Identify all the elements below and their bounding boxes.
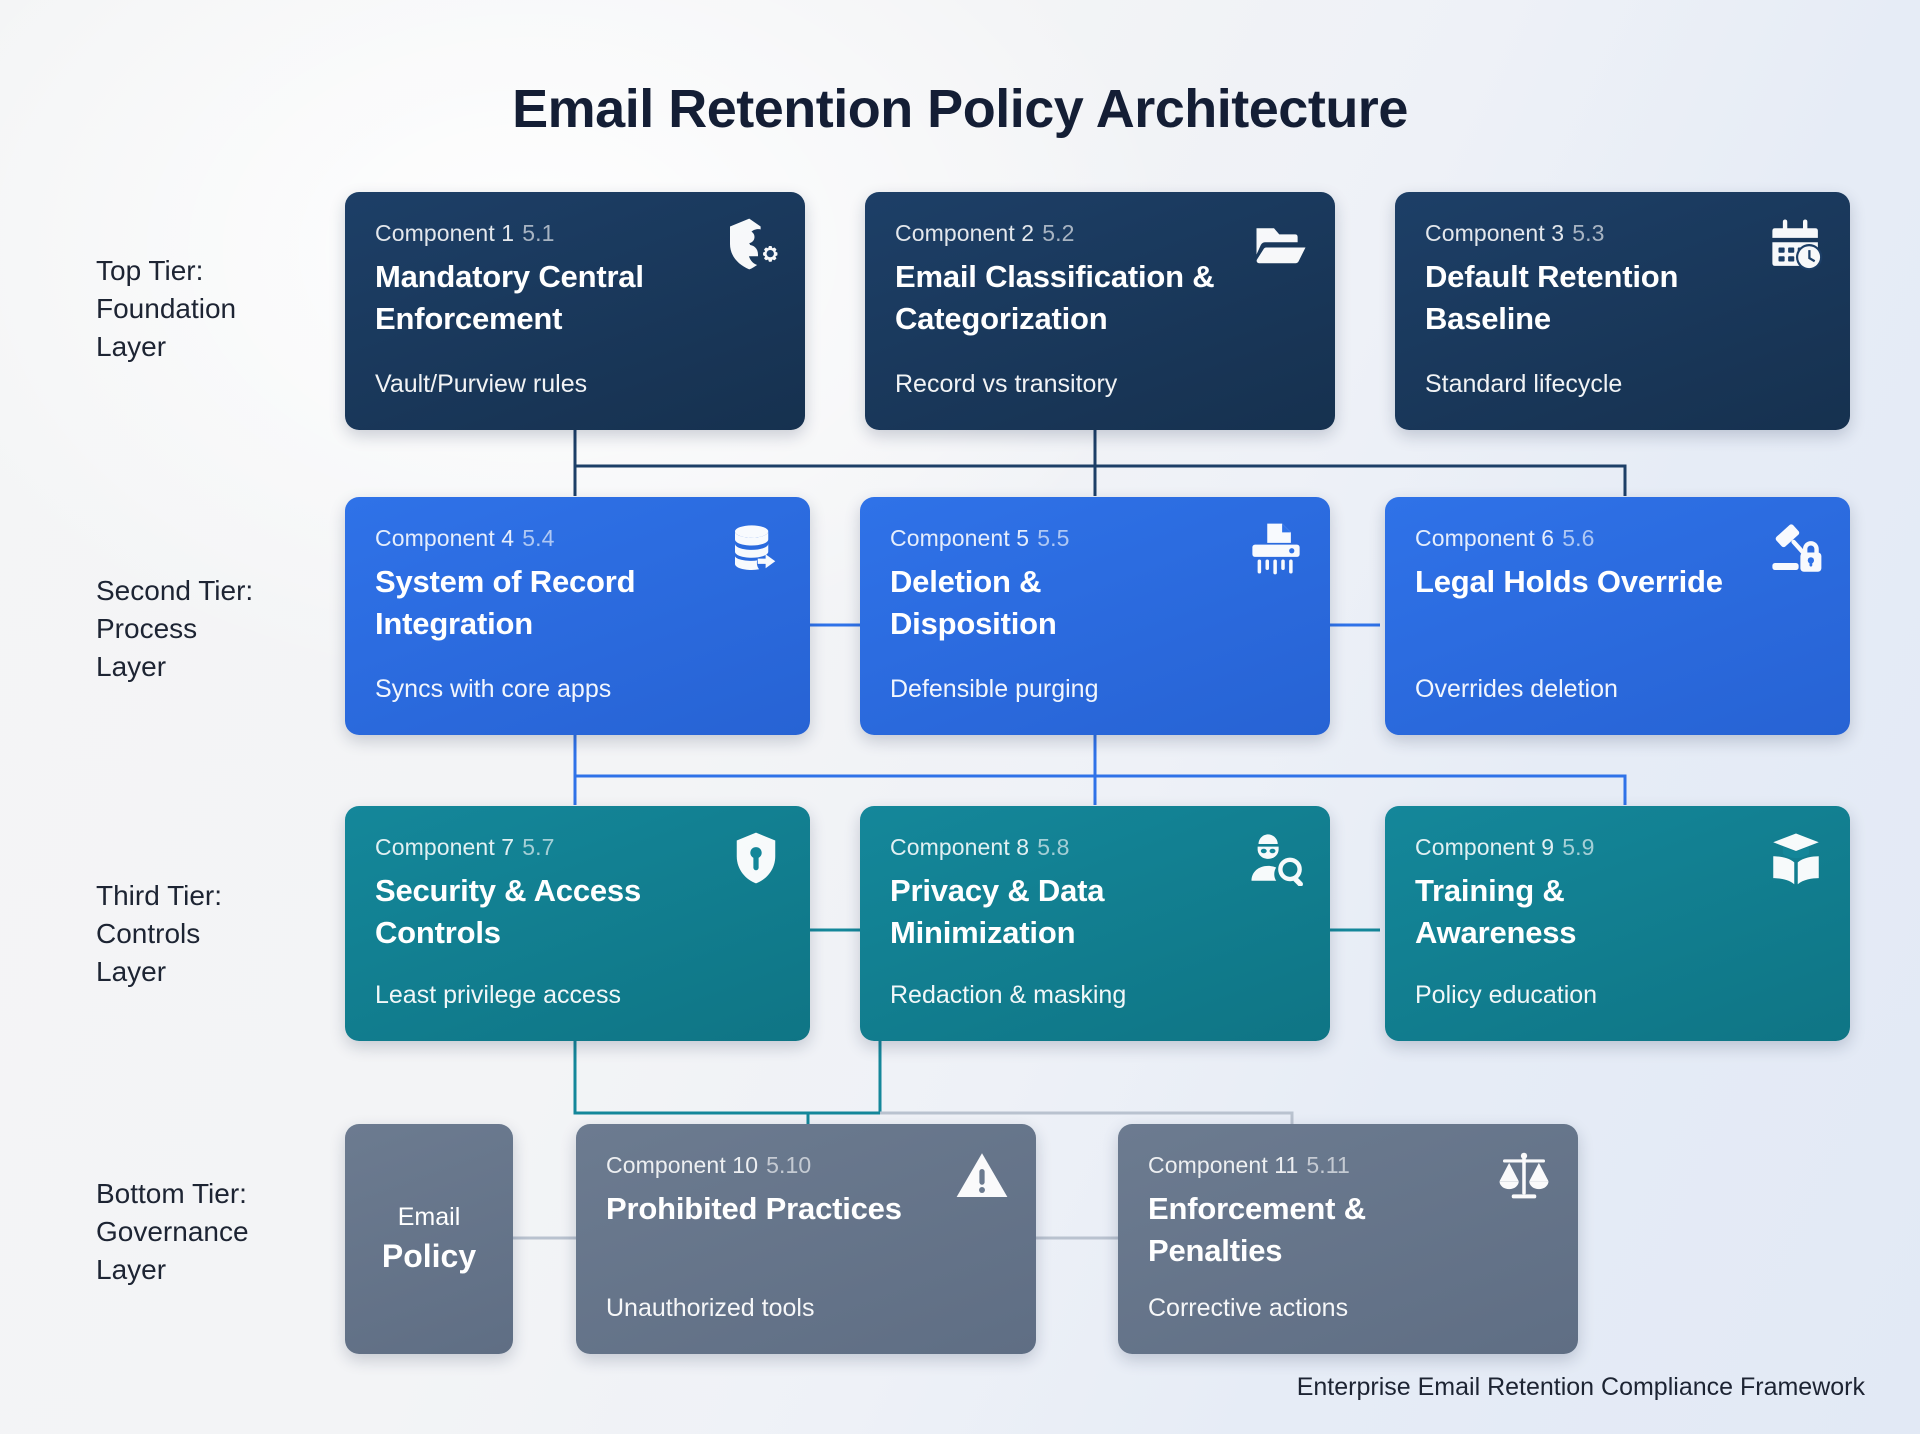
calendar-clock-icon (1768, 216, 1824, 272)
component-card-3[interactable]: Component 35.3 Default Retention Baselin… (1395, 192, 1850, 430)
card-eyebrow: Component 35.3 (1425, 220, 1820, 247)
card-title: Training & Awareness (1415, 870, 1731, 954)
component-card-8[interactable]: Component 85.8 Privacy & Data Minimizati… (860, 806, 1330, 1041)
warning-triangle-icon (954, 1148, 1010, 1204)
card-subtitle: Defensible purging (890, 675, 1098, 704)
card-subtitle: Vault/Purview rules (375, 370, 587, 399)
component-card-1[interactable]: Component 15.1 Mandatory Central Enforce… (345, 192, 805, 430)
card-eyebrow: Component 25.2 (895, 220, 1305, 247)
database-sync-icon (728, 521, 784, 577)
footer-caption: Enterprise Email Retention Compliance Fr… (1297, 1373, 1865, 1402)
policy-card-big-label: Policy (382, 1234, 476, 1278)
card-eyebrow: Component 55.5 (890, 525, 1300, 552)
open-folder-icon (1253, 216, 1309, 272)
card-subtitle: Syncs with core apps (375, 675, 611, 704)
email-policy-card[interactable]: Email Policy (345, 1124, 513, 1354)
component-card-2[interactable]: Component 25.2 Email Classification & Ca… (865, 192, 1335, 430)
card-subtitle: Policy education (1415, 981, 1597, 1010)
card-subtitle: Corrective actions (1148, 1294, 1348, 1323)
card-title: Mandatory Central Enforcement (375, 256, 687, 340)
component-card-4[interactable]: Component 45.4 System of Record Integrat… (345, 497, 810, 735)
component-card-5[interactable]: Component 55.5 Deletion & Disposition De… (860, 497, 1330, 735)
card-eyebrow: Component 95.9 (1415, 834, 1820, 861)
card-eyebrow: Component 45.4 (375, 525, 780, 552)
card-subtitle: Standard lifecycle (1425, 370, 1622, 399)
card-eyebrow: Component 115.11 (1148, 1152, 1548, 1179)
tier-label-top: Top Tier:FoundationLayer (96, 252, 386, 366)
card-subtitle: Unauthorized tools (606, 1294, 814, 1323)
tier-label-second: Second Tier:ProcessLayer (96, 572, 386, 686)
component-card-7[interactable]: Component 75.7 Security & Access Control… (345, 806, 810, 1041)
component-card-6[interactable]: Component 65.6 Legal Holds Override Over… (1385, 497, 1850, 735)
card-title: Privacy & Data Minimization (890, 870, 1210, 954)
tier-label-third: Third Tier:ControlsLayer (96, 877, 386, 991)
component-card-11[interactable]: Component 115.11 Enforcement & Penalties… (1118, 1124, 1578, 1354)
policy-card-small-label: Email (398, 1200, 461, 1234)
card-title: System of Record Integration (375, 561, 691, 645)
card-subtitle: Record vs transitory (895, 370, 1117, 399)
card-subtitle: Least privilege access (375, 981, 621, 1010)
card-subtitle: Overrides deletion (1415, 675, 1618, 704)
card-eyebrow: Component 85.8 (890, 834, 1300, 861)
anonymous-user-search-icon (1248, 830, 1304, 886)
card-title: Security & Access Controls (375, 870, 691, 954)
card-subtitle: Redaction & masking (890, 981, 1126, 1010)
diagram-canvas: Email Retention Policy Architecture (0, 0, 1920, 1434)
card-eyebrow: Component 75.7 (375, 834, 780, 861)
card-title: Enforcement & Penalties (1148, 1188, 1460, 1272)
card-eyebrow: Component 105.10 (606, 1152, 1006, 1179)
card-eyebrow: Component 15.1 (375, 220, 775, 247)
component-card-10[interactable]: Component 105.10 Prohibited Practices Un… (576, 1124, 1036, 1354)
shield-user-gear-icon (723, 216, 779, 272)
card-eyebrow: Component 65.6 (1415, 525, 1820, 552)
tier-label-bottom: Bottom Tier:GovernanceLayer (96, 1175, 386, 1289)
card-title: Deletion & Disposition (890, 561, 1210, 645)
card-title: Prohibited Practices (606, 1188, 918, 1230)
card-title: Legal Holds Override (1415, 561, 1731, 603)
gavel-lock-icon (1768, 521, 1824, 577)
component-card-9[interactable]: Component 95.9 Training & Awareness Poli… (1385, 806, 1850, 1041)
graduation-book-icon (1768, 830, 1824, 886)
card-title: Default Retention Baseline (1425, 256, 1733, 340)
scales-of-justice-icon (1496, 1148, 1552, 1204)
paper-shredder-icon (1248, 521, 1304, 577)
card-title: Email Classification & Categorization (895, 256, 1215, 340)
shield-keyhole-icon (728, 830, 784, 886)
